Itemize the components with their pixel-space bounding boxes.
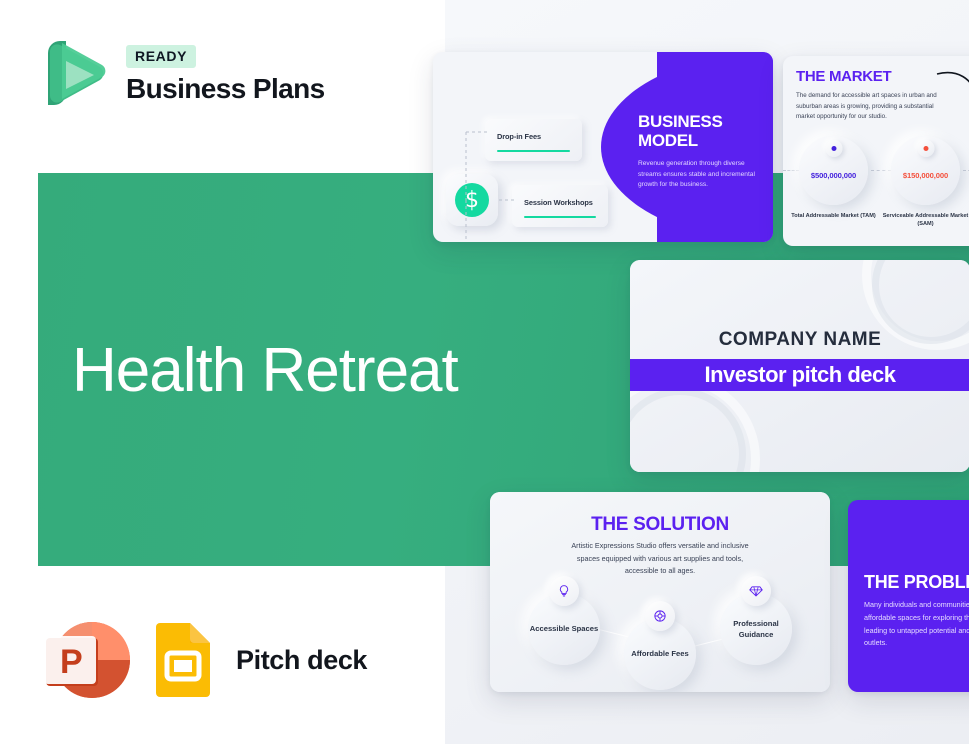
solution-node-label: Professional Guidance [720, 618, 792, 641]
business-model-title: BUSINESS MODEL [638, 112, 766, 150]
google-slides-icon [152, 623, 214, 697]
play-logo-icon [38, 33, 112, 113]
brand-text-block: READY Business Plans [126, 41, 325, 105]
curved-arrow-icon [935, 68, 969, 110]
solution-node[interactable]: Accessible Spaces [528, 593, 600, 665]
company-name: COMPANY NAME [630, 329, 969, 351]
footer-bar: P Pitch deck [42, 618, 367, 702]
the-solution-title: THE SOLUTION [490, 514, 830, 536]
solution-node-label: Affordable Fees [631, 648, 688, 659]
the-problem-description: Many individuals and communities lack ac… [864, 599, 969, 650]
business-model-slide[interactable]: $ Drop-in Fees Session Workshops Commiss… [433, 52, 773, 242]
footer-label: Pitch deck [236, 645, 367, 676]
diamond-icon [741, 576, 771, 606]
market-dash-right [963, 170, 969, 171]
the-market-slide[interactable]: THE MARKET The demand for accessible art… [783, 56, 969, 246]
ready-badge: READY [126, 45, 196, 68]
market-metric-dot [831, 146, 836, 151]
market-metric-value: $500,000,000 [799, 171, 868, 180]
market-metric-caption: Total Addressable Market (TAM) [790, 212, 877, 220]
market-metric-value: $150,000,000 [891, 171, 960, 180]
the-solution-slide[interactable]: THE SOLUTION Artistic Expressions Studio… [490, 492, 830, 692]
target-icon [645, 601, 675, 631]
the-problem-slide[interactable]: THE PROBLEM Many individuals and communi… [848, 500, 969, 692]
market-dash-left [783, 170, 799, 171]
market-metric-dot-holder [917, 140, 934, 157]
investor-pitch-deck-label: Investor pitch deck [704, 362, 895, 388]
market-metric-circle: $500,000,000 Total Addressable Market (T… [799, 136, 868, 205]
market-metric-dot [923, 146, 928, 151]
hero-title: Health Retreat [72, 340, 458, 402]
market-metric-caption: Serviceable Addressable Market (SAM) [882, 212, 969, 229]
brand-title: Business Plans [126, 73, 325, 105]
market-metric-circle: $150,000,000 Serviceable Addressable Mar… [891, 136, 960, 205]
powerpoint-icon: P [42, 618, 130, 702]
solution-node[interactable]: Professional Guidance [720, 593, 792, 665]
market-metric-dot-holder [825, 140, 842, 157]
brand-header: READY Business Plans [38, 33, 325, 113]
the-market-title: THE MARKET [796, 68, 891, 85]
svg-text:P: P [60, 643, 83, 681]
market-metric: $150,000,000 Serviceable Addressable Mar… [891, 136, 960, 205]
investor-pitch-deck-bar: Investor pitch deck [630, 359, 969, 391]
solution-node-label: Accessible Spaces [530, 623, 598, 634]
the-problem-title: THE PROBLEM [864, 572, 969, 593]
lightbulb-icon [549, 576, 579, 606]
market-dash-mid [871, 170, 891, 171]
solution-node[interactable]: Affordable Fees [624, 618, 696, 690]
company-title-slide[interactable]: COMPANY NAME Investor pitch deck [630, 260, 969, 472]
business-model-description: Revenue generation through diverse strea… [638, 159, 760, 191]
the-solution-description: Artistic Expressions Studio offers versa… [560, 540, 760, 578]
the-market-description: The demand for accessible art spaces in … [796, 91, 950, 123]
market-metric: $500,000,000 Total Addressable Market (T… [799, 136, 868, 205]
